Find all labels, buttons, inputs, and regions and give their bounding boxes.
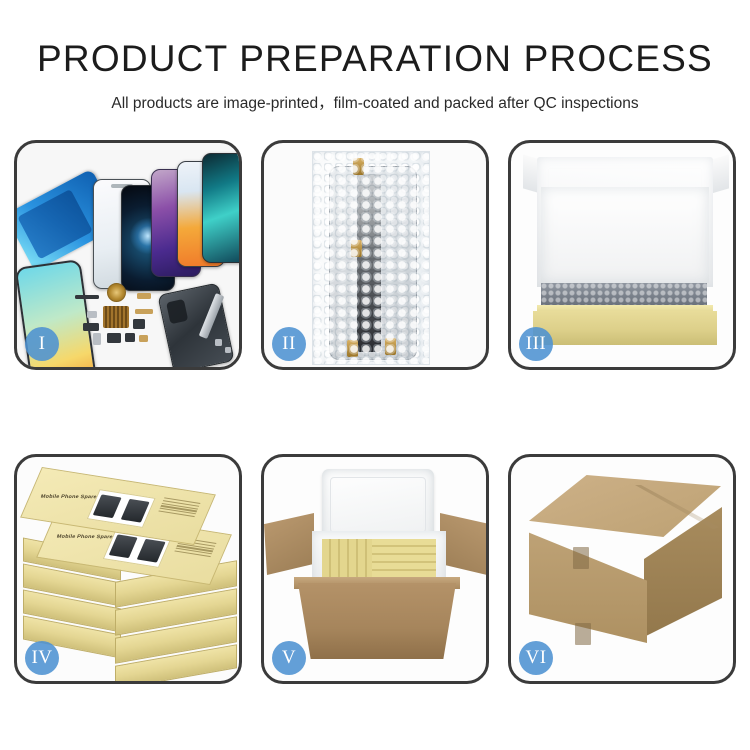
bubble-texture-overlay — [313, 152, 429, 364]
spare-part — [125, 333, 135, 342]
window-screen-right — [121, 499, 149, 522]
page-header: PRODUCT PREPARATION PROCESS All products… — [0, 0, 750, 113]
step-badge-4: IV — [25, 641, 59, 675]
carton-flap-right — [440, 513, 486, 575]
carton-body — [298, 583, 456, 659]
process-step-card-6[interactable]: VI — [508, 454, 736, 684]
kraft-tray-front — [533, 311, 717, 345]
step-badge-6: VI — [519, 641, 553, 675]
process-step-card-4[interactable]: Mobile Phone Spare Parts Mobile Phone Sp… — [14, 454, 242, 684]
page-subtitle: All products are image-printed，film-coat… — [0, 91, 750, 113]
step-badge-3: III — [519, 327, 553, 361]
process-steps-grid: I II III — [14, 140, 736, 684]
process-step-card-3[interactable]: III — [508, 140, 736, 370]
bubble-wrap-bag — [312, 151, 430, 365]
step-badge-1: I — [25, 327, 59, 361]
carton-hand-hole — [573, 547, 589, 569]
spare-part — [135, 309, 153, 314]
box-print-lines — [158, 497, 200, 517]
window-screen-left — [109, 535, 137, 558]
process-step-card-2[interactable]: II — [261, 140, 489, 370]
step-badge-2: II — [272, 327, 306, 361]
process-step-card-1[interactable]: I — [14, 140, 242, 370]
window-screen-right — [137, 539, 165, 562]
spare-part — [75, 295, 99, 299]
spare-part — [137, 293, 151, 299]
foam-insert — [541, 187, 709, 283]
box-window-preview — [87, 489, 156, 528]
speaker-coil-part — [107, 283, 126, 302]
process-step-card-5[interactable]: V — [261, 454, 489, 684]
spare-part — [215, 339, 222, 346]
spare-part — [133, 319, 145, 329]
carton-flap-left — [264, 513, 314, 575]
page-title: PRODUCT PREPARATION PROCESS — [0, 40, 750, 79]
spare-part — [93, 333, 101, 345]
box-lid-flap-right — [711, 154, 729, 193]
phone-screen-teal — [202, 153, 239, 263]
spare-part — [225, 347, 231, 353]
window-screen-left — [93, 495, 121, 518]
spare-part — [107, 333, 121, 343]
spare-part — [87, 311, 97, 318]
carton-hand-hole — [575, 623, 591, 645]
spare-part — [83, 323, 99, 331]
step-badge-5: V — [272, 641, 306, 675]
spare-part — [139, 335, 148, 342]
spare-part-chip — [103, 306, 129, 328]
